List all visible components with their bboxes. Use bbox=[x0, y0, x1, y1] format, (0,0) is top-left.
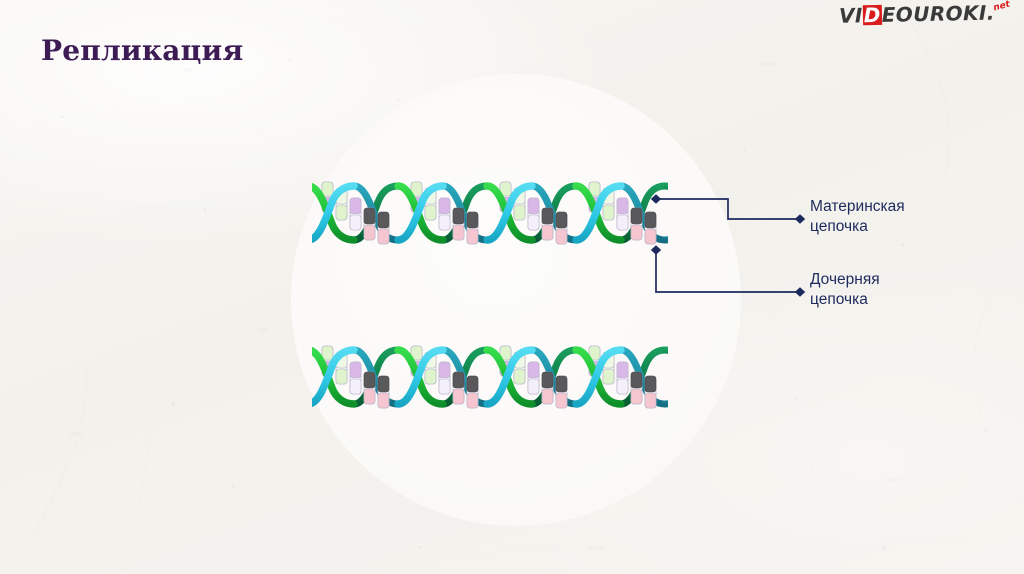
page-title: Репликация bbox=[41, 36, 243, 67]
illustration-backdrop-circle bbox=[291, 74, 741, 526]
videouroki-logo[interactable]: VIDEOUROKI.net bbox=[839, 2, 1012, 30]
daughter-strand-label: Дочерняя цепочка bbox=[810, 270, 880, 311]
logo-text-part2: EOUROKI. bbox=[882, 3, 995, 25]
slide-canvas: Репликация VIDEOUROKI.net bbox=[0, 0, 1024, 574]
upper-dna-helix bbox=[312, 168, 668, 264]
logo-tld: net bbox=[993, 0, 1012, 14]
logo-text-part1: VI bbox=[839, 5, 863, 25]
lower-dna-helix bbox=[312, 332, 668, 428]
logo-text-highlight: D bbox=[863, 5, 882, 25]
maternal-strand-label: Материнская цепочка bbox=[810, 197, 905, 238]
